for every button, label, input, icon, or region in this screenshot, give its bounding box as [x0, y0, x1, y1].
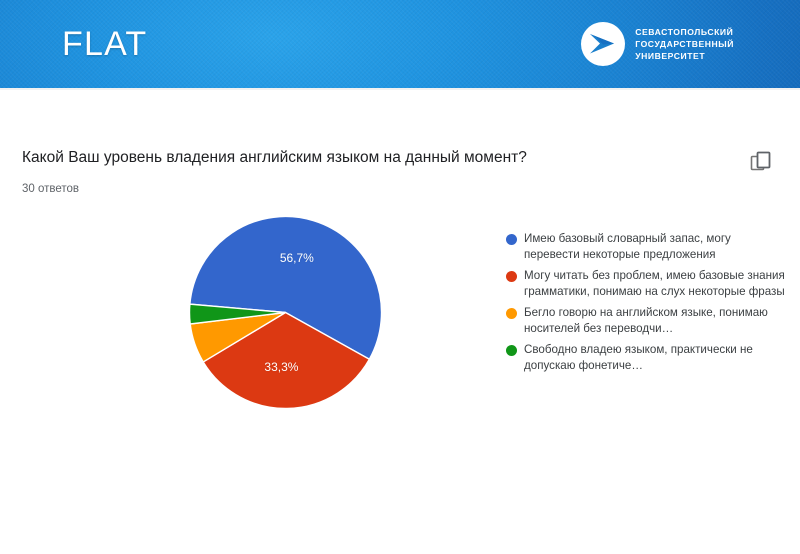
university-emblem-icon — [581, 22, 625, 66]
legend-item-label: Могу читать без проблем, имею базовые зн… — [524, 268, 786, 299]
legend-bullet-icon — [506, 271, 517, 282]
logo-line-1: СЕВАСТОПОЛЬСКИЙ — [635, 27, 734, 38]
logo-line-3: УНИВЕРСИТЕТ — [635, 51, 734, 62]
legend-item-label: Имею базовый словарный запас, могу перев… — [524, 231, 786, 262]
legend-item-label: Бегло говорю на английском языке, понима… — [524, 305, 786, 336]
legend-bullet-icon — [506, 308, 517, 319]
pie-chart: 56,7% 33,3% — [188, 215, 383, 410]
legend-item[interactable]: Свободно владею языком, практически не д… — [506, 342, 786, 373]
copy-icon[interactable] — [748, 148, 774, 174]
page-title: FLAT — [62, 22, 147, 66]
university-logo: СЕВАСТОПОЛЬСКИЙ ГОСУДАРСТВЕННЫЙ УНИВЕРСИ… — [581, 22, 734, 66]
university-logo-text: СЕВАСТОПОЛЬСКИЙ ГОСУДАРСТВЕННЫЙ УНИВЕРСИ… — [635, 27, 734, 62]
legend-item-label: Свободно владею языком, практически не д… — [524, 342, 786, 373]
legend-bullet-icon — [506, 345, 517, 356]
legend-item[interactable]: Бегло говорю на английском языке, понима… — [506, 305, 786, 336]
chart-legend: Имею базовый словарный запас, могу перев… — [506, 231, 786, 379]
pie-chart-figure: 56,7% 33,3% Имею базовый словарный запас… — [0, 205, 800, 445]
logo-line-2: ГОСУДАРСТВЕННЫЙ — [635, 39, 734, 50]
legend-item[interactable]: Могу читать без проблем, имею базовые зн… — [506, 268, 786, 299]
response-count-label: 30 ответов — [22, 182, 79, 197]
legend-bullet-icon — [506, 234, 517, 245]
legend-item[interactable]: Имею базовый словарный запас, могу перев… — [506, 231, 786, 262]
presentation-slide: FLAT СЕВАСТОПОЛЬСКИЙ ГОСУДАРСТВЕННЫЙ УНИ… — [0, 0, 800, 554]
header-divider — [0, 88, 800, 90]
question-text: Какой Ваш уровень владения английским яз… — [22, 148, 722, 168]
